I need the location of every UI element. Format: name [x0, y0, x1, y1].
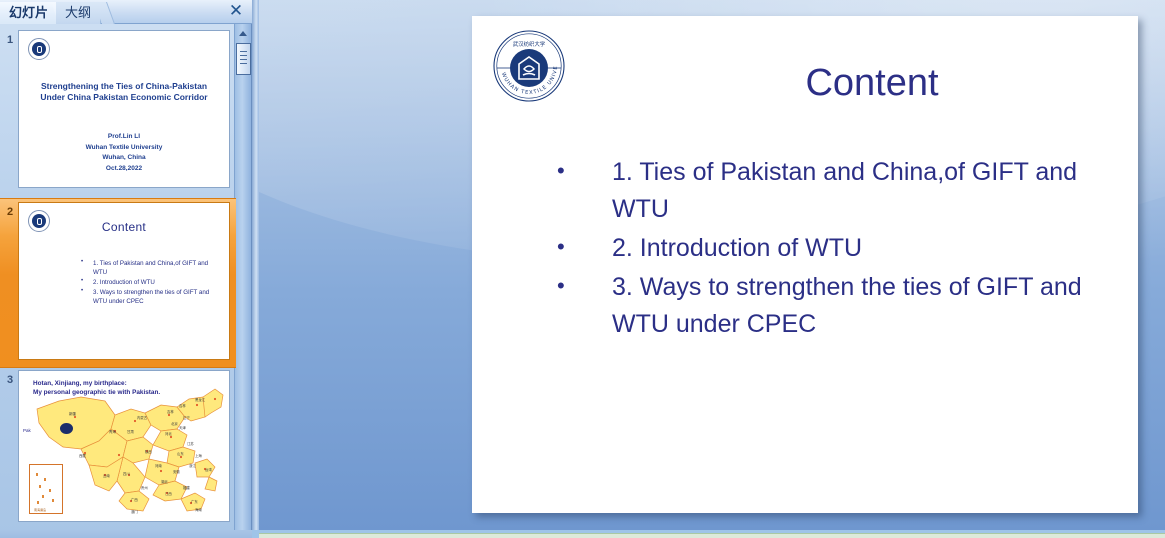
- tab-slides-label: 幻灯片: [9, 5, 48, 20]
- slide-bullet-list[interactable]: 1. Ties of Pakistan and China,of GIFT an…: [497, 154, 1118, 345]
- thumbnail-2-bullet-list: 1. Ties of Pakistan and China,of GIFT an…: [41, 259, 221, 307]
- svg-text:河南: 河南: [155, 463, 162, 468]
- powerpoint-window: 幻灯片 大纲 ✕ 1 Strengthening the Ties of Chi…: [0, 0, 1165, 538]
- notes-pane[interactable]: [259, 533, 1165, 538]
- presentation-date: Oct.28,2022: [31, 164, 217, 175]
- list-item[interactable]: 3. Ways to strengthen the ties of GIFT a…: [537, 269, 1118, 343]
- svg-text:贵州: 贵州: [141, 485, 148, 490]
- thumbnail-number-3: 3: [4, 374, 16, 386]
- svg-text:新疆: 新疆: [69, 411, 76, 416]
- svg-text:江苏: 江苏: [187, 441, 194, 446]
- svg-text:吉林: 吉林: [179, 403, 186, 408]
- svg-text:武汉纺织大学: 武汉纺织大学: [513, 40, 546, 48]
- south-china-sea-inset: 南海诸岛: [29, 464, 63, 514]
- slide-thumbnail-panel: 幻灯片 大纲 ✕ 1 Strengthening the Ties of Chi…: [0, 0, 252, 538]
- thumbnail-number-2: 2: [4, 206, 16, 218]
- thumbnail-1-subtitle: Prof.Lin LI Wuhan Textile University Wuh…: [31, 132, 217, 174]
- current-slide-canvas[interactable]: WUHAN TEXTILE UNIVERSITY 武汉纺织大学 Content …: [472, 16, 1138, 513]
- svg-text:上海: 上海: [195, 453, 202, 458]
- svg-text:陕西: 陕西: [145, 449, 152, 454]
- svg-text:江西: 江西: [165, 491, 172, 496]
- presenter-city: Wuhan, China: [31, 153, 217, 164]
- presenter-affiliation: Wuhan Textile University: [31, 143, 217, 154]
- svg-text:广东: 广东: [191, 499, 198, 504]
- svg-text:吉林: 吉林: [167, 409, 174, 414]
- tab-outline-label: 大纲: [65, 5, 91, 20]
- thumbnail-slide-3[interactable]: 3: [0, 370, 236, 530]
- svg-text:西藏: 西藏: [79, 453, 86, 458]
- scroll-up-arrow-icon[interactable]: [236, 25, 251, 41]
- svg-text:山东: 山东: [177, 451, 184, 456]
- svg-text:内蒙古: 内蒙古: [137, 415, 148, 420]
- thumbnail-1-title: Strengthening the Ties of China-Pakistan…: [31, 81, 217, 103]
- map-label-pakistan: Pak: [23, 428, 31, 433]
- svg-text:北京: 北京: [171, 421, 178, 426]
- svg-text:台湾: 台湾: [205, 467, 212, 472]
- svg-text:甘肃: 甘肃: [127, 429, 134, 434]
- slide-title[interactable]: Content: [622, 61, 1122, 105]
- thumbnail-scrollbar[interactable]: [234, 24, 251, 538]
- list-item[interactable]: 2. Introduction of WTU: [537, 230, 1118, 267]
- svg-text:广西: 广西: [131, 497, 138, 502]
- caption-line-2: My personal geographic tie with Pakistan…: [33, 388, 160, 397]
- svg-text:辽宁: 辽宁: [183, 415, 190, 420]
- svg-text:天津: 天津: [179, 425, 186, 430]
- svg-text:河北: 河北: [165, 431, 172, 436]
- svg-text:四川: 四川: [123, 472, 130, 476]
- presenter-name: Prof.Lin LI: [31, 132, 217, 143]
- university-logo-icon: [28, 38, 50, 60]
- thumbnail-canvas-1[interactable]: Strengthening the Ties of China-Pakistan…: [18, 30, 230, 188]
- svg-text:海南: 海南: [195, 507, 202, 512]
- logo-svg: WUHAN TEXTILE UNIVERSITY 武汉纺织大学: [492, 29, 566, 103]
- close-icon[interactable]: ✕: [226, 1, 246, 21]
- svg-text:湖北: 湖北: [161, 479, 168, 484]
- svg-text:浙江: 浙江: [189, 463, 196, 468]
- thumbnail-number-1: 1: [4, 34, 16, 46]
- panel-bottom-filler: [0, 530, 252, 538]
- list-item: 3. Ways to strengthen the ties of GIFT a…: [81, 288, 221, 306]
- thumbnail-canvas-2[interactable]: Content 1. Ties of Pakistan and China,of…: [18, 202, 230, 360]
- scrollbar-thumb[interactable]: [236, 43, 251, 75]
- list-item[interactable]: 1. Ties of Pakistan and China,of GIFT an…: [537, 154, 1118, 228]
- svg-text:福建: 福建: [183, 485, 190, 490]
- slide-editing-area: WUHAN TEXTILE UNIVERSITY 武汉纺织大学 Content …: [252, 0, 1165, 530]
- thumbnail-canvas-3[interactable]: 新疆西藏 青海甘肃 内蒙古吉林 黑龙江吉林 河北山东 河南四川 云南广西 江西广…: [18, 370, 230, 522]
- panel-tabstrip: 幻灯片 大纲 ✕: [0, 0, 252, 24]
- tab-slides[interactable]: 幻灯片: [0, 2, 58, 24]
- wuhan-textile-university-logo-icon: WUHAN TEXTILE UNIVERSITY 武汉纺织大学: [492, 29, 566, 103]
- svg-text:澳门: 澳门: [131, 509, 138, 514]
- svg-text:云南: 云南: [103, 473, 110, 478]
- panel-splitter[interactable]: [252, 0, 259, 530]
- tab-outline[interactable]: 大纲: [56, 2, 101, 24]
- thumbnail-2-title: Content: [19, 220, 229, 234]
- list-item: 2. Introduction of WTU: [81, 278, 221, 287]
- thumbnail-3-caption: Hotan, Xinjiang, my birthplace: My perso…: [33, 379, 160, 397]
- thumbnail-slide-1[interactable]: 1 Strengthening the Ties of China-Pakist…: [0, 30, 236, 190]
- hotan-marker-icon: [60, 423, 73, 434]
- caption-line-1: Hotan, Xinjiang, my birthplace:: [33, 379, 160, 388]
- inset-caption: 南海诸岛: [34, 508, 46, 512]
- svg-text:黑龙江: 黑龙江: [195, 397, 206, 402]
- thumbnail-slide-2[interactable]: 2 Content 1. Ties of Pakistan and China,…: [0, 202, 236, 362]
- svg-text:安徽: 安徽: [173, 469, 180, 474]
- list-item: 1. Ties of Pakistan and China,of GIFT an…: [81, 259, 221, 277]
- svg-text:青海: 青海: [109, 429, 116, 434]
